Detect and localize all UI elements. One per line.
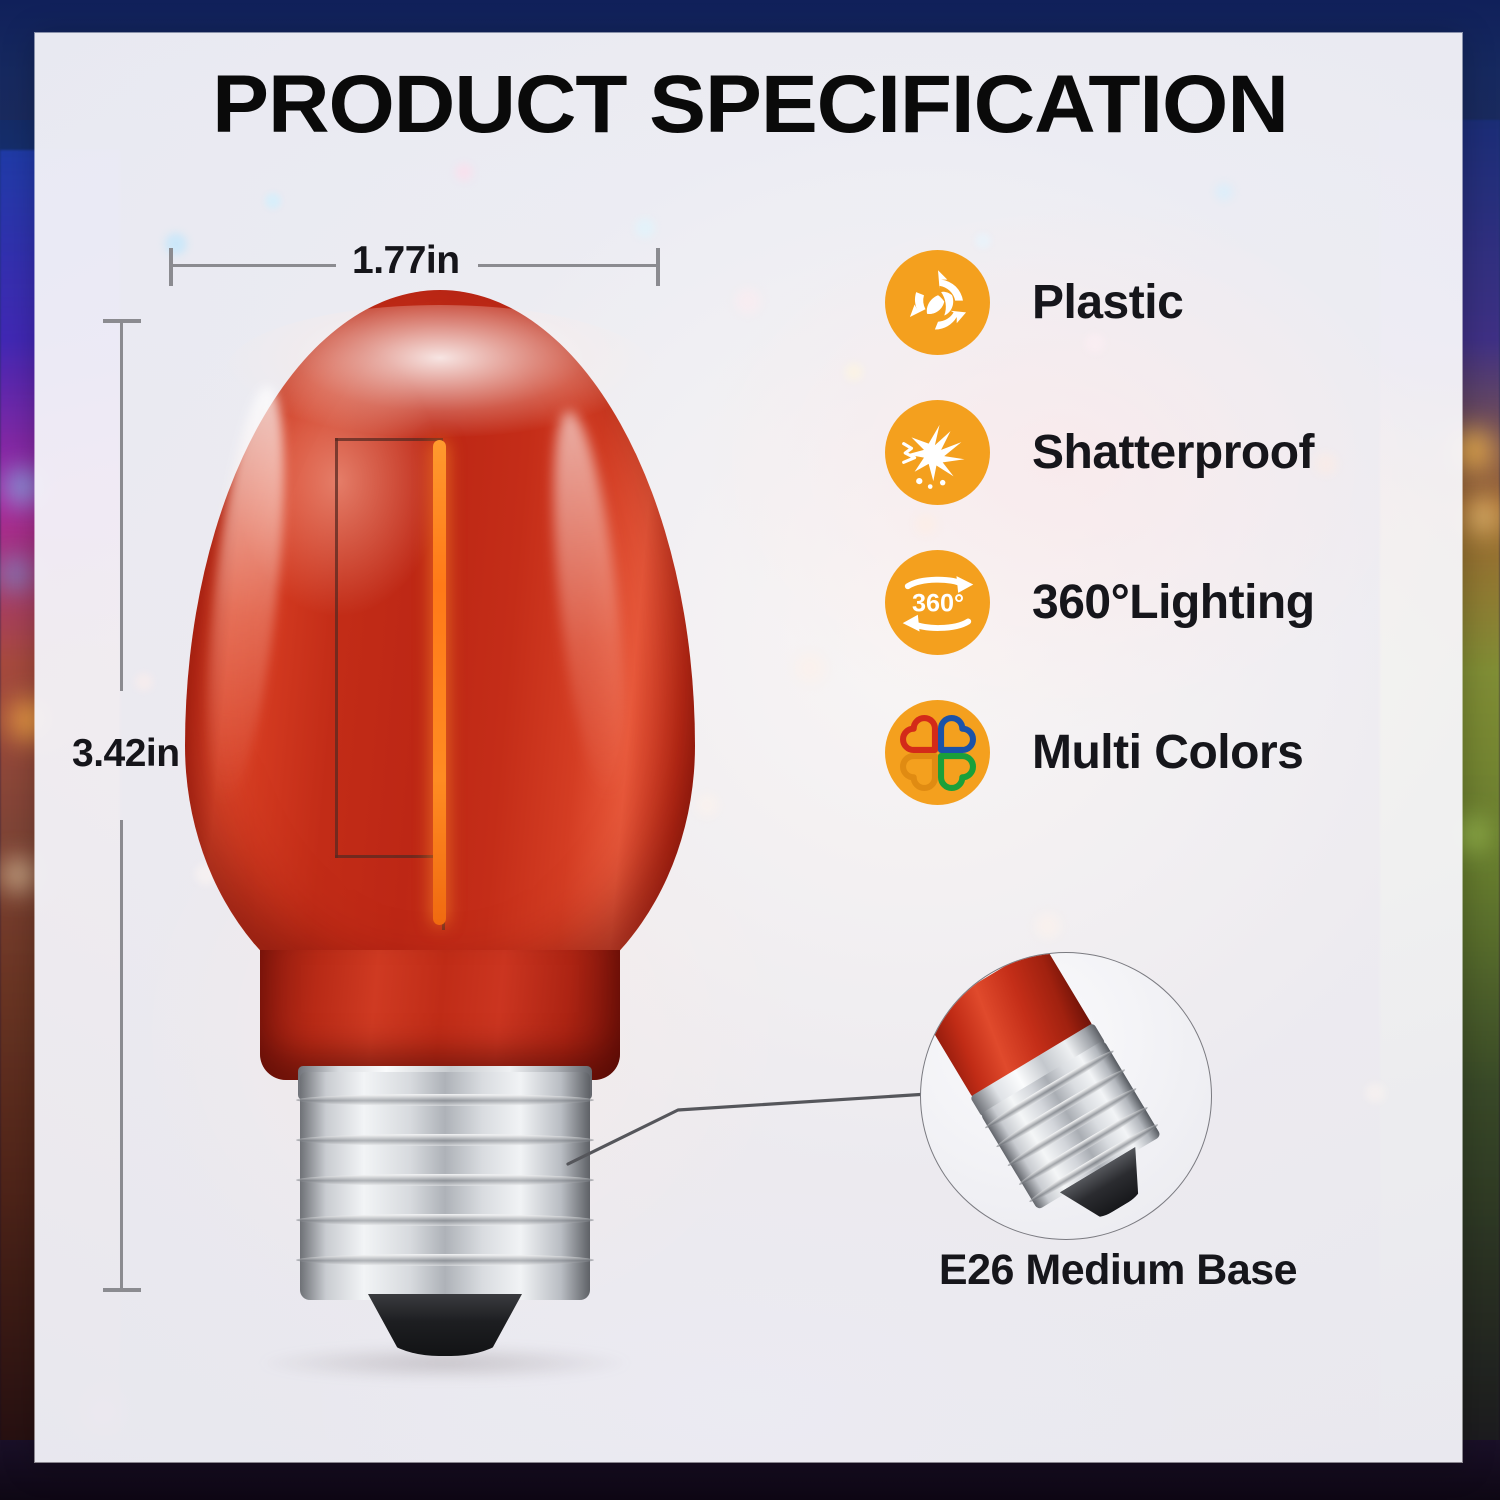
feature-label: Multi Colors (1032, 725, 1303, 780)
360-rotation-icon: 360° (885, 550, 990, 655)
width-caliper-bar-right (478, 264, 658, 267)
filament-support-wire-vertical (335, 438, 338, 858)
screw-thread (296, 1094, 594, 1106)
width-caliper-bar-left (171, 264, 336, 267)
height-caliper-tick-bottom (103, 1288, 141, 1292)
360-icon-text: 360° (911, 589, 963, 617)
screw-thread (296, 1174, 594, 1186)
feature-label: Shatterproof (1032, 425, 1314, 480)
feature-row-plastic[interactable]: Plastic (885, 250, 1183, 355)
width-caliper-tick-right (656, 248, 660, 286)
screw-thread (296, 1254, 594, 1266)
impact-burst-icon (885, 400, 990, 505)
feature-row-360-lighting[interactable]: 360° 360°Lighting (885, 550, 1315, 655)
magnifier-circle-icon (920, 952, 1212, 1240)
callout-caption: E26 Medium Base (908, 1246, 1328, 1295)
height-caliper-bar-top (120, 321, 123, 691)
width-caliper-tick-left (169, 248, 173, 286)
recycle-leaf-icon (885, 250, 990, 355)
screw-thread (296, 1214, 594, 1226)
filament-support-wire-bottom (335, 855, 445, 858)
feature-row-shatterproof[interactable]: Shatterproof (885, 400, 1314, 505)
width-dimension-label: 1.77in (352, 239, 460, 283)
callout-leader-line (560, 1060, 940, 1180)
four-color-petals-icon (885, 700, 990, 805)
feature-label: Plastic (1032, 275, 1183, 330)
screw-thread (296, 1134, 594, 1146)
feature-label: 360°Lighting (1032, 575, 1315, 630)
filament-support-wire-top (335, 438, 443, 441)
height-caliper-bar-bottom (120, 820, 123, 1290)
page-title: PRODUCT SPECIFICATION (0, 58, 1500, 152)
feature-row-multi-colors[interactable]: Multi Colors (885, 700, 1303, 805)
led-filament (433, 440, 446, 925)
e26-screw-base (300, 1072, 590, 1300)
